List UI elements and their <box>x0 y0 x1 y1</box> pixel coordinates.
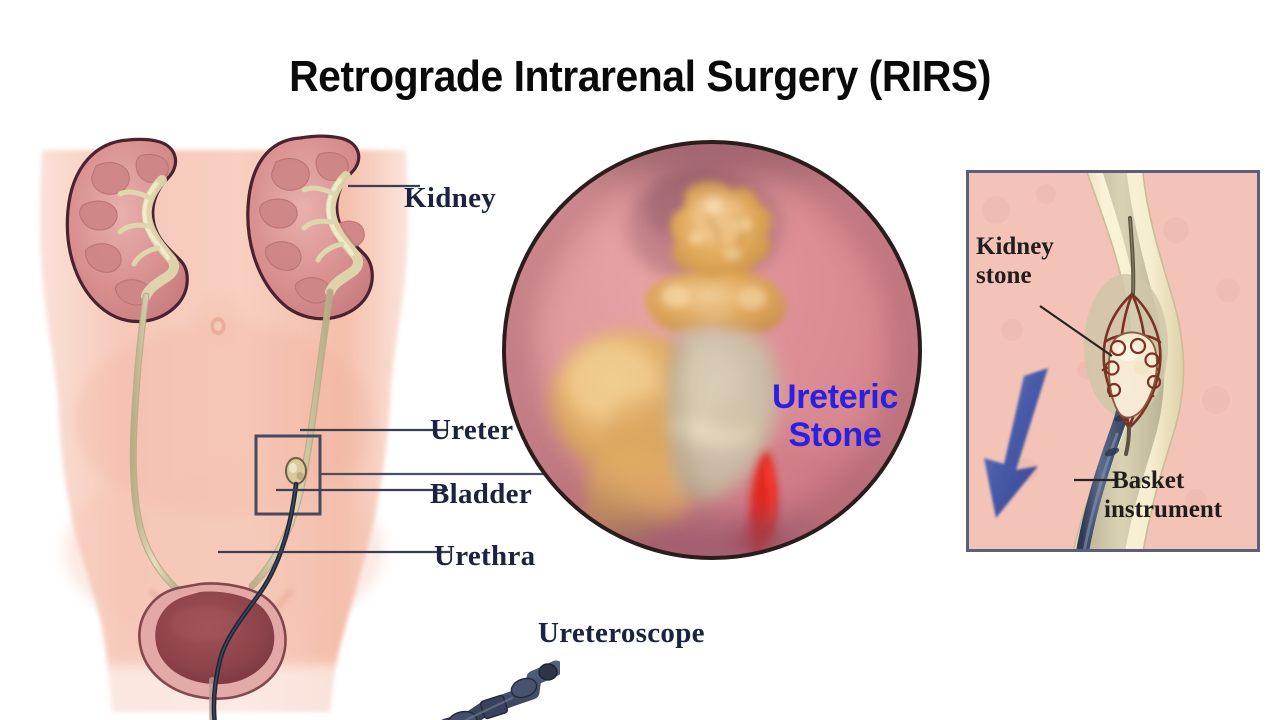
overlay-line-2: Stone <box>742 416 928 454</box>
diagram-canvas: Retrograde Intrarenal Surgery (RIRS) <box>0 0 1280 720</box>
basket-line-1: Basket <box>1112 467 1184 494</box>
ureteric-stone-inset <box>286 458 306 484</box>
ureteric-stone-overlay-label: Ureteric Stone <box>742 378 928 454</box>
basket-line-2: instrument <box>1104 495 1222 524</box>
label-ureteroscope: Ureteroscope <box>538 617 705 650</box>
label-basket-instrument: Basket instrument <box>1112 466 1222 524</box>
endoscopic-svg <box>500 120 940 580</box>
kidney-stone-line-1: Kidney <box>976 233 1054 260</box>
kidney-stone-line-2: stone <box>976 261 1054 290</box>
label-kidney: Kidney <box>404 182 496 215</box>
endoscopic-view-photo <box>500 120 940 580</box>
label-kidney-stone: Kidney stone <box>976 232 1054 290</box>
overlay-line-1: Ureteric <box>772 378 898 416</box>
page-title: Retrograde Intrarenal Surgery (RIRS) <box>45 52 1235 102</box>
endoscope-field <box>500 120 940 580</box>
